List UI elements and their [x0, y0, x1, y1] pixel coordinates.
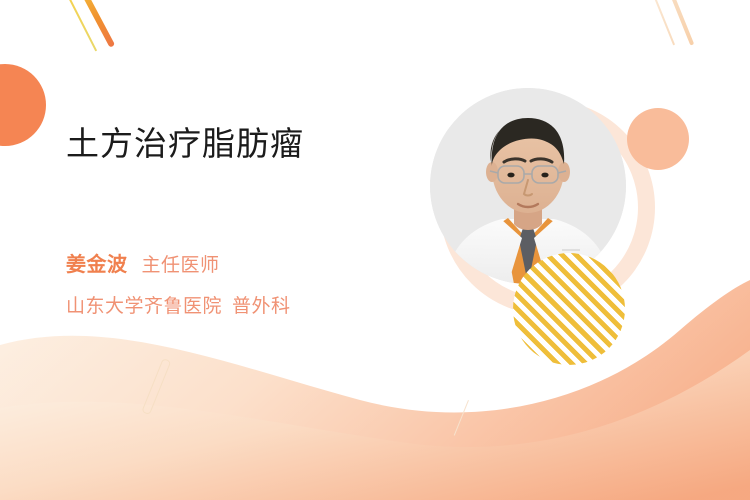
peach-dot-decoration: [627, 108, 689, 170]
yellow-diagonal-stroke-icon: [60, 0, 97, 51]
page-title: 土方治疗脂肪瘤: [66, 117, 304, 165]
faint-diagonal-stroke-icon-right: [668, 0, 694, 46]
thin-diagonal-stroke-icon: [454, 400, 469, 436]
wave-front: [0, 350, 750, 500]
doctor-affiliation-row: 山东大学齐鲁医院普外科: [66, 291, 291, 318]
hollow-diagonal-stripe-icon: [141, 358, 171, 415]
avatar: [430, 88, 626, 284]
faint-diagonal-stroke-icon-left: [650, 0, 675, 45]
doctor-article-banner: 土方治疗脂肪瘤 姜金波主任医师 山东大学齐鲁医院普外科: [0, 0, 750, 500]
orange-diagonal-stroke-icon: [77, 0, 115, 48]
doctor-professional-title: 主任医师: [142, 255, 220, 276]
orange-circle-decoration: [0, 64, 46, 146]
doctor-department: 普外科: [232, 296, 291, 317]
doctor-name: 姜金波: [66, 254, 128, 276]
striped-circle-decoration: [513, 253, 625, 365]
doctor-portrait-image: [430, 88, 626, 284]
avatar-circle: [430, 88, 626, 284]
doctor-name-row: 姜金波主任医师: [66, 248, 220, 277]
doctor-hospital: 山东大学齐鲁医院: [66, 296, 222, 317]
